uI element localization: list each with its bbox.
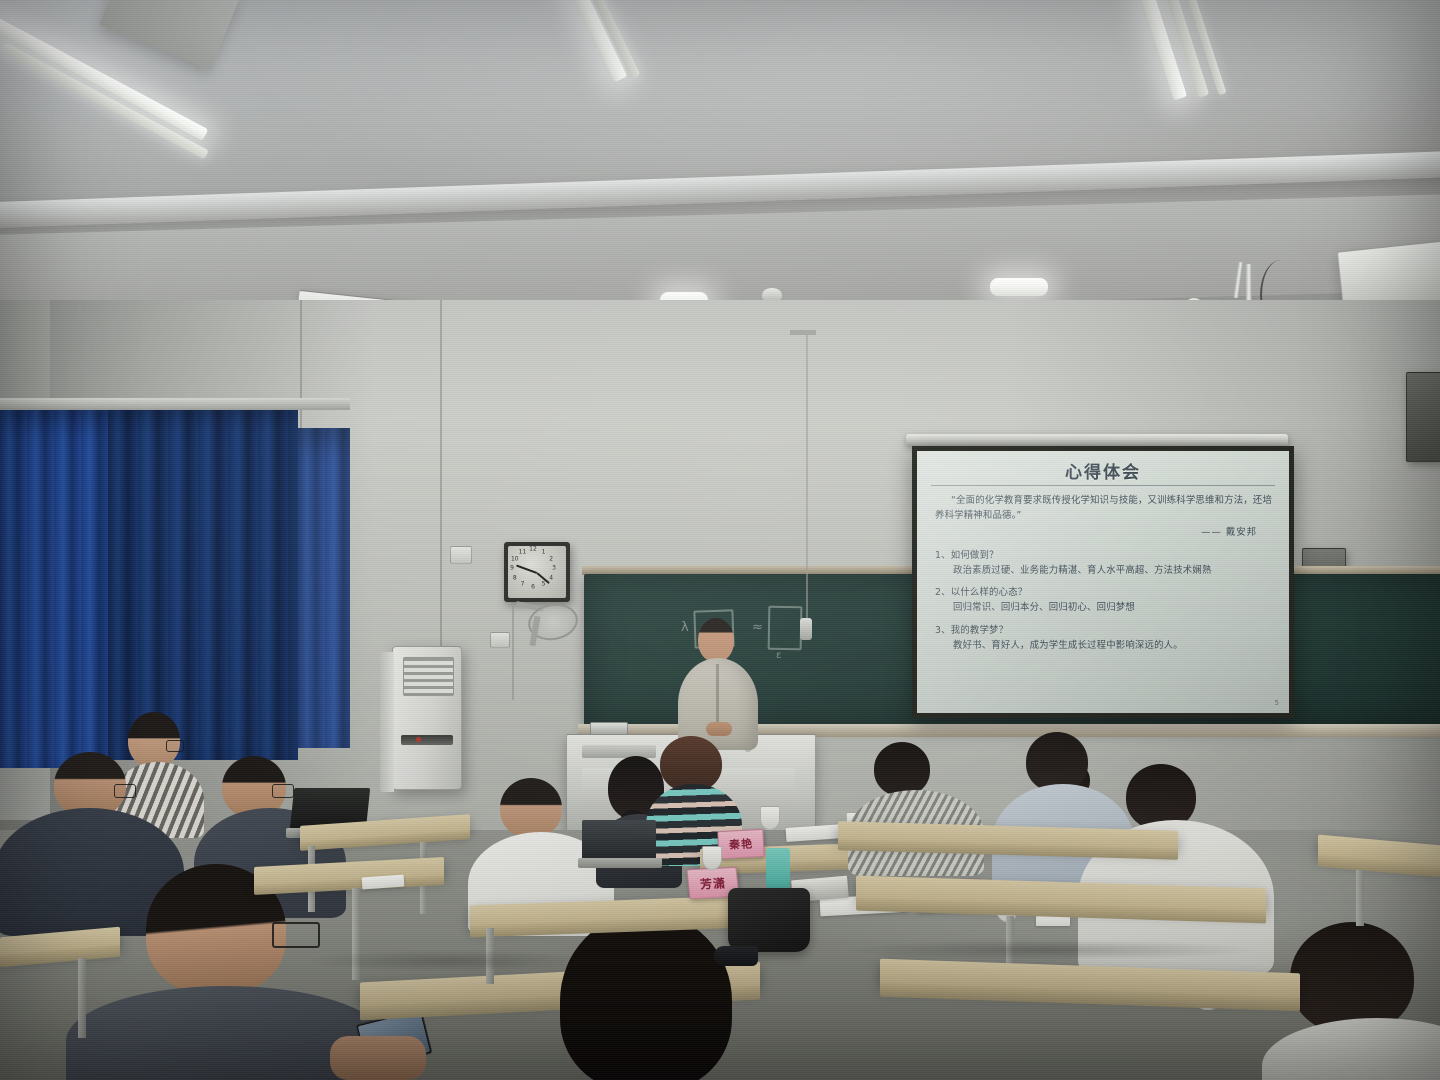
clock-numeral: 4 [549,574,553,581]
window-curtain [298,428,350,748]
shoe [714,946,758,966]
slide-item-3-question: 3、我的教学梦？ [935,623,1275,638]
slide-item-2-text: 以什么样的心态？ [951,587,1028,598]
fan-pull-cord [512,604,514,700]
attendee-head [874,742,930,796]
presenter-head [698,618,734,662]
wall-bracket [790,330,816,335]
attendee-foreground [96,864,356,1080]
slide-divider [931,485,1275,486]
documents [1036,916,1070,926]
desk-leg [1356,870,1364,926]
hand-holding-phone [330,1036,426,1080]
classroom-photo: λ ≈ ε 心得体会 “全面的化学教育要求既传授化学知识与技能，又训练科学思维和… [0,0,1440,1080]
wall-speaker-right [1406,372,1440,462]
chalk-text: ε [776,650,781,661]
paper-cup [760,806,780,830]
cord-weight [800,618,812,640]
attendee-foreground [1282,922,1440,1080]
water-bottle [766,848,790,888]
glasses [272,922,320,948]
presenter [676,618,762,750]
clock-numeral: 7 [521,581,525,588]
floor-shadow [300,950,600,972]
ac-grille [403,657,455,696]
clock-numeral: 11 [519,548,527,555]
slide-item-1-question: 1、如何做到？ [935,548,1275,563]
slide-body: “全面的化学教育要求既传授化学知识与技能，又训练科学思维和方法，还培养科学精神和… [935,493,1275,653]
hanging-cord [806,330,808,620]
slide-page-number: 5 [1275,699,1279,707]
projection-screen-frame: 心得体会 “全面的化学教育要求既传授化学知识与技能，又训练科学思维和方法，还培养… [912,446,1294,718]
wall-clock: 121234567891011 [504,542,570,602]
wall-socket [490,632,510,648]
slide-item-3-text: 我的教学梦？ [951,625,1008,636]
window-curtain [108,400,298,760]
clock-numeral: 12 [529,546,537,553]
slide-title: 心得体会 [917,458,1289,483]
slide-item-1-number: 1、 [935,550,951,561]
air-conditioner [392,646,462,790]
laptop[interactable] [578,820,660,870]
backpack [728,888,810,952]
attendee-head [1290,922,1414,1034]
clock-numeral: 8 [513,574,517,581]
clock-numeral: 5 [542,581,546,588]
slide-item-3-number: 3、 [935,625,951,636]
slide-attribution: —— 戴安邦 [935,525,1275,540]
clock-numeral: 1 [542,548,546,555]
slide-item-1-answer: 政治素质过硬、业务能力精湛、育人水平高超、方法技术娴熟 [935,563,1275,578]
clock-numeral: 9 [510,565,514,572]
presenter-hands [706,722,732,736]
laptop-keyboard[interactable] [578,858,662,868]
slide-item-2-question: 2、以什么样的心态？ [935,585,1275,600]
clock-numeral: 2 [549,555,553,562]
slide-item-1-text: 如何做到？ [951,550,999,561]
attendee-torso [1262,1018,1440,1080]
attendee-head [500,778,562,838]
clock-face: 121234567891011 [508,546,566,598]
paper-cup [702,846,722,870]
desk-leg [78,958,86,1038]
slide-quote: “全面的化学教育要求既传授化学知识与技能，又训练科学思维和方法，还培养科学精神和… [935,493,1275,523]
floor-shadow [840,940,1260,960]
chalk-drawing [768,606,803,651]
curtain-rail [0,398,350,410]
window-curtain [0,408,112,768]
laptop-screen [582,820,656,860]
slide-item-2-number: 2、 [935,587,951,598]
ac-display-strip [401,735,453,745]
name-card: 秦艳 [717,829,764,859]
glasses [166,740,184,752]
clock-numeral: 10 [511,555,519,562]
screen-roller [906,434,1288,446]
projection-screen: 心得体会 “全面的化学教育要求既传授化学知识与技能，又训练科学思维和方法，还培养… [917,451,1289,713]
glasses [114,784,136,798]
clock-numeral: 3 [552,565,556,572]
ac-side-panel [380,652,394,792]
slide-item-2-answer: 回归常识、回归本分、回归初心、回归梦想 [935,600,1275,615]
attendee-head [560,912,732,1080]
ceiling-downlight [990,278,1048,296]
clock-minute-hand [516,565,537,574]
slide-item-3-answer: 教好书、育好人，成为学生成长过程中影响深远的人。 [935,638,1275,653]
wall-socket [450,546,472,564]
attendee [1078,764,1258,964]
clock-numeral: 6 [531,584,535,591]
